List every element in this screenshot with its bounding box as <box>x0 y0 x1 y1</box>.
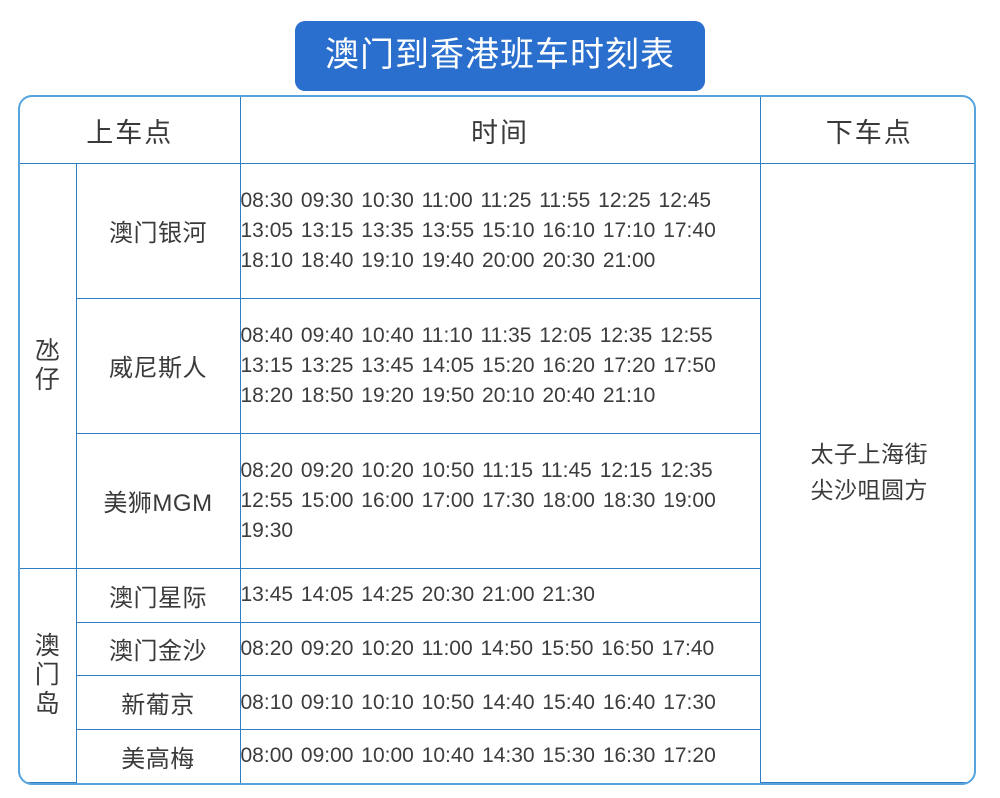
group-char: 仔 <box>35 366 61 395</box>
group-label-text: 氹 仔 <box>35 337 61 395</box>
group-char: 岛 <box>35 690 61 719</box>
page-title: 澳门到香港班车时刻表 <box>295 21 705 91</box>
group-char: 门 <box>35 661 61 690</box>
group-char: 澳 <box>35 632 61 661</box>
times-grand-lisboa: 08:10 09:10 10:10 10:50 14:40 15:40 16:4… <box>240 676 760 730</box>
table-row: 氹 仔 澳门银河 08:30 09:30 10:30 11:00 11:25 1… <box>20 164 976 299</box>
station-name-mgm-macau: 美高梅 <box>76 730 240 783</box>
table-header-row: 上车点 时间 下车点 <box>20 97 976 164</box>
column-header-time: 时间 <box>240 97 760 164</box>
times-galaxy: 08:30 09:30 10:30 11:00 11:25 11:55 12:2… <box>240 164 760 299</box>
group-label-macau-peninsula: 澳 门 岛 <box>20 568 76 782</box>
schedule-table: 上车点 时间 下车点 氹 仔 澳门银河 08:30 09:30 10:30 11… <box>20 97 976 783</box>
station-name-sands: 澳门金沙 <box>76 622 240 676</box>
dropoff-line: 太子上海街 <box>761 437 977 473</box>
column-header-dropoff: 下车点 <box>760 97 976 164</box>
column-header-pickup: 上车点 <box>20 97 240 164</box>
times-venetian: 08:40 09:40 10:40 11:10 11:35 12:05 12:3… <box>240 298 760 433</box>
group-label-taipa: 氹 仔 <box>20 164 76 569</box>
schedule-table-frame: 上车点 时间 下车点 氹 仔 澳门银河 08:30 09:30 10:30 11… <box>18 95 976 785</box>
group-char: 氹 <box>35 337 61 366</box>
dropoff-cell: 太子上海街 尖沙咀圆方 <box>760 164 976 783</box>
times-mgm: 08:20 09:20 10:20 10:50 11:15 11:45 12:1… <box>240 433 760 568</box>
group-label-text: 澳 门 岛 <box>35 632 61 719</box>
timetable-page: 澳门到香港班车时刻表 上车点 时间 下车点 氹 <box>0 0 1000 798</box>
station-name-galaxy: 澳门银河 <box>76 164 240 299</box>
station-name-venetian: 威尼斯人 <box>76 298 240 433</box>
dropoff-line: 尖沙咀圆方 <box>761 473 977 509</box>
times-mgm-macau: 08:00 09:00 10:00 10:40 14:30 15:30 16:3… <box>240 730 760 783</box>
times-sands: 08:20 09:20 10:20 11:00 14:50 15:50 16:5… <box>240 622 760 676</box>
times-starworld: 13:45 14:05 14:25 20:30 21:00 21:30 <box>240 568 760 622</box>
station-name-grand-lisboa: 新葡京 <box>76 676 240 730</box>
station-name-mgm: 美狮MGM <box>76 433 240 568</box>
station-name-starworld: 澳门星际 <box>76 568 240 622</box>
title-banner: 澳门到香港班车时刻表 <box>0 21 1000 91</box>
